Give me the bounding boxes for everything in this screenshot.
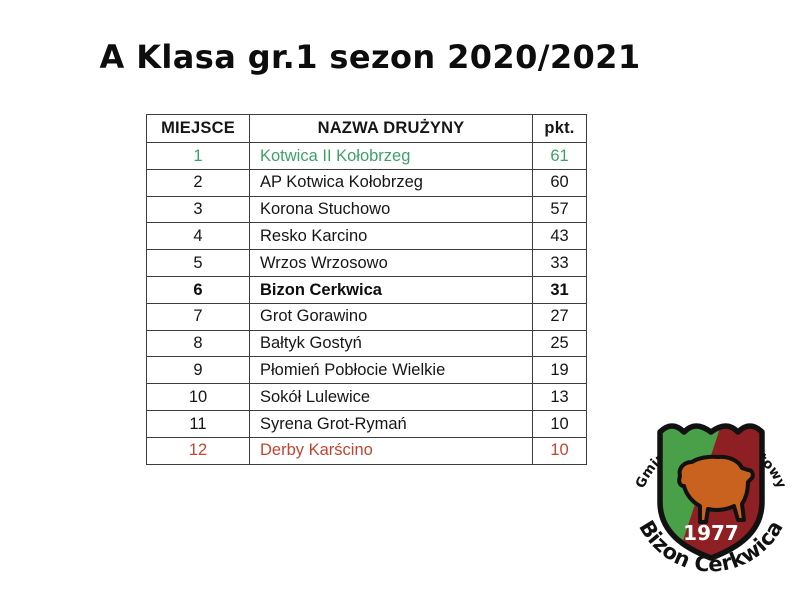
cell-rank: 8 [147, 330, 250, 357]
table-row: 4Resko Karcino43 [147, 223, 587, 250]
cell-rank: 2 [147, 169, 250, 196]
cell-team: Bizon Cerkwica [250, 276, 533, 303]
cell-points: 10 [533, 410, 587, 437]
column-header-points: pkt. [533, 115, 587, 143]
cell-points: 25 [533, 330, 587, 357]
cell-points: 31 [533, 276, 587, 303]
table-row: 8Bałtyk Gostyń25 [147, 330, 587, 357]
table-body: 1Kotwica II Kołobrzeg612AP Kotwica Kołob… [147, 143, 587, 465]
cell-points: 33 [533, 250, 587, 277]
cell-rank: 1 [147, 143, 250, 170]
cell-team: Syrena Grot-Rymań [250, 410, 533, 437]
cell-rank: 6 [147, 276, 250, 303]
column-header-rank: MIEJSCE [147, 115, 250, 143]
cell-points: 61 [533, 143, 587, 170]
cell-points: 43 [533, 223, 587, 250]
cell-team: AP Kotwica Kołobrzeg [250, 169, 533, 196]
table-row: 9Płomień Pobłocie Wielkie19 [147, 357, 587, 384]
cell-points: 57 [533, 196, 587, 223]
cell-rank: 9 [147, 357, 250, 384]
cell-points: 10 [533, 437, 587, 464]
cell-team: Korona Stuchowo [250, 196, 533, 223]
cell-points: 27 [533, 303, 587, 330]
cell-team: Sokół Lulewice [250, 384, 533, 411]
table-row: 3Korona Stuchowo57 [147, 196, 587, 223]
column-header-team: NAZWA DRUŻYNY [250, 115, 533, 143]
table-row: 7Grot Gorawino27 [147, 303, 587, 330]
cell-team: Resko Karcino [250, 223, 533, 250]
cell-team: Wrzos Wrzosowo [250, 250, 533, 277]
cell-rank: 3 [147, 196, 250, 223]
cell-rank: 10 [147, 384, 250, 411]
cell-points: 19 [533, 357, 587, 384]
cell-team: Grot Gorawino [250, 303, 533, 330]
cell-team: Bałtyk Gostyń [250, 330, 533, 357]
table-row: 12Derby Karścino10 [147, 437, 587, 464]
cell-points: 60 [533, 169, 587, 196]
cell-rank: 11 [147, 410, 250, 437]
cell-team: Płomień Pobłocie Wielkie [250, 357, 533, 384]
table-row: 10Sokół Lulewice13 [147, 384, 587, 411]
cell-rank: 12 [147, 437, 250, 464]
table-header: MIEJSCE NAZWA DRUŻYNY pkt. [147, 115, 587, 143]
table-row: 1Kotwica II Kołobrzeg61 [147, 143, 587, 170]
cell-rank: 4 [147, 223, 250, 250]
standings-table: MIEJSCE NAZWA DRUŻYNY pkt. 1Kotwica II K… [146, 114, 587, 465]
table-row: 5Wrzos Wrzosowo33 [147, 250, 587, 277]
table-header-row: MIEJSCE NAZWA DRUŻYNY pkt. [147, 115, 587, 143]
cell-team: Kotwica II Kołobrzeg [250, 143, 533, 170]
table-row: 6Bizon Cerkwica31 [147, 276, 587, 303]
cell-team: Derby Karścino [250, 437, 533, 464]
cell-rank: 7 [147, 303, 250, 330]
club-crest-logo: Gminny Klub Sportowy 1977 Bizon Cerkwica [620, 398, 800, 584]
cell-rank: 5 [147, 250, 250, 277]
table-row: 11Syrena Grot-Rymań10 [147, 410, 587, 437]
page-title: A Klasa gr.1 sezon 2020/2021 [0, 38, 740, 76]
crest-year-text: 1977 [683, 521, 739, 545]
table-row: 2AP Kotwica Kołobrzeg60 [147, 169, 587, 196]
cell-points: 13 [533, 384, 587, 411]
